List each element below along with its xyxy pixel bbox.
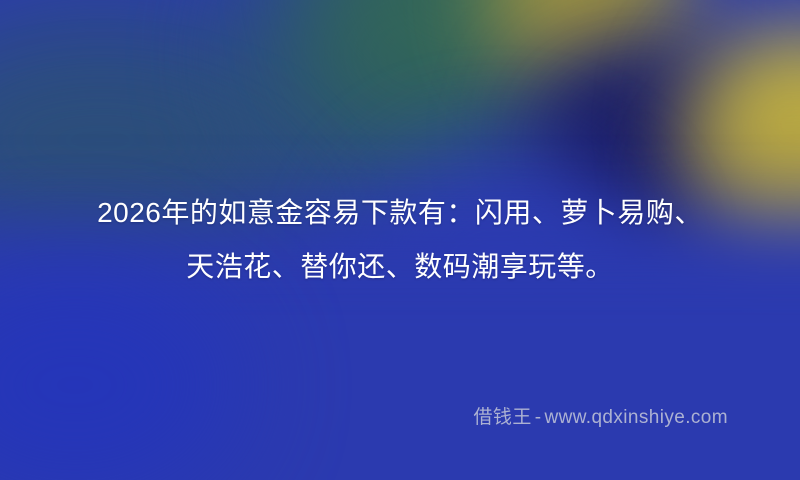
watermark: 借钱王-www.qdxinshiye.com (474, 405, 728, 431)
banner-canvas: 2026年的如意金容易下款有：闪用、萝卜易购、 天浩花、替你还、数码潮享玩等。 … (0, 0, 800, 480)
headline: 2026年的如意金容易下款有：闪用、萝卜易购、 天浩花、替你还、数码潮享玩等。 (0, 186, 800, 294)
watermark-brand: 借钱王 (474, 407, 532, 428)
headline-line-1: 2026年的如意金容易下款有：闪用、萝卜易购、 (46, 186, 754, 240)
banner-content: 2026年的如意金容易下款有：闪用、萝卜易购、 天浩花、替你还、数码潮享玩等。 … (0, 0, 800, 480)
watermark-separator: - (532, 407, 545, 428)
watermark-url: www.qdxinshiye.com (544, 407, 728, 428)
headline-line-2: 天浩花、替你还、数码潮享玩等。 (46, 240, 754, 294)
